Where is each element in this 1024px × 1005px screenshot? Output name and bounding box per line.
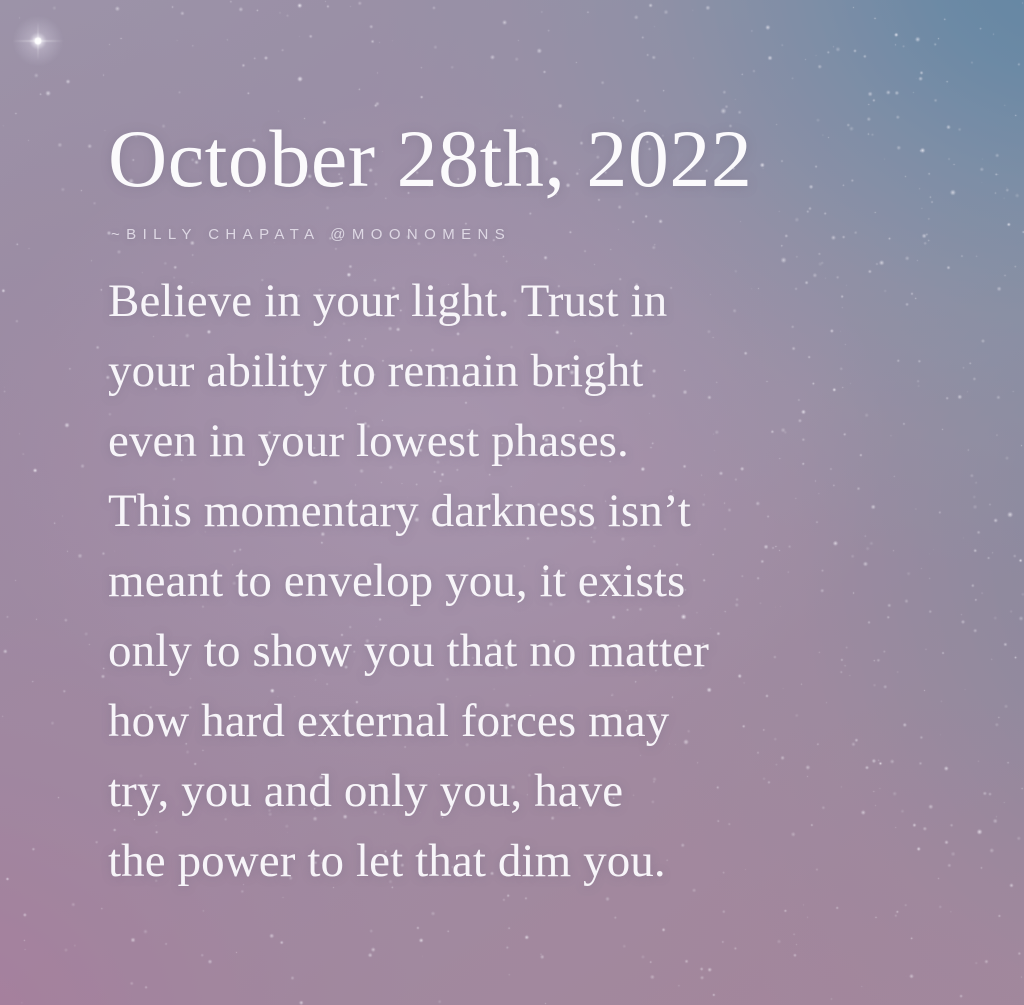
quote-line: the power to let that dim you. <box>108 826 709 896</box>
quote-line: This momentary darkness isn’t <box>108 476 709 546</box>
attribution-credit: ~BILLY CHAPATA @MOONOMENS <box>111 226 511 243</box>
quote-line: try, you and only you, have <box>108 756 709 826</box>
text-content: October 28th, 2022 ~BILLY CHAPATA @MOONO… <box>108 0 968 1005</box>
quote-line: your ability to remain bright <box>108 336 709 406</box>
quote-text: Believe in your light. Trust inyour abil… <box>108 266 709 896</box>
quote-line: only to show you that no matter <box>108 616 709 686</box>
quote-line: Believe in your light. Trust in <box>108 266 709 336</box>
quote-line: meant to envelop you, it exists <box>108 546 709 616</box>
quote-card: October 28th, 2022 ~BILLY CHAPATA @MOONO… <box>0 0 1024 1005</box>
quote-line: even in your lowest phases. <box>108 406 709 476</box>
page-title: October 28th, 2022 <box>108 118 752 200</box>
quote-line: how hard external forces may <box>108 686 709 756</box>
